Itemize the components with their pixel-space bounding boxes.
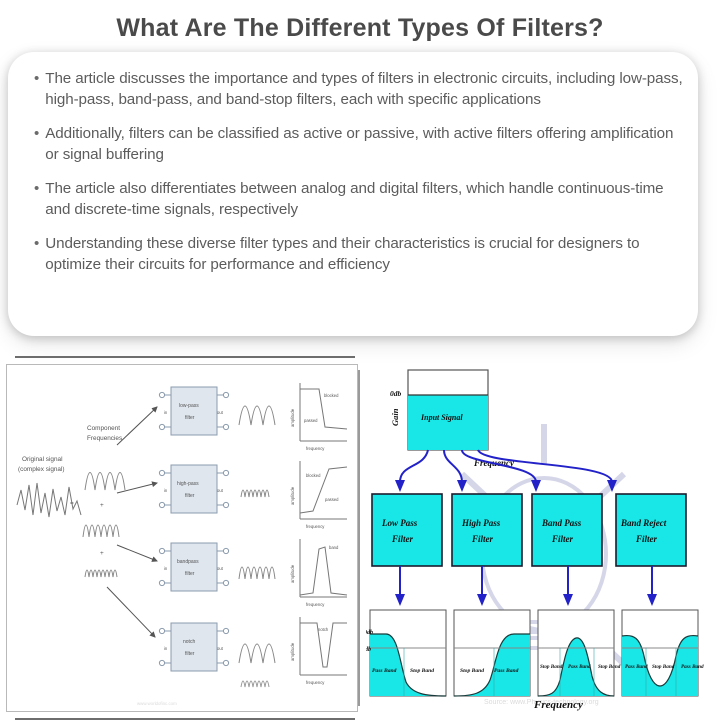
- bullet-marker-icon: •: [34, 178, 39, 199]
- band-label: Stop Band: [460, 668, 484, 674]
- db-zero-label: 0db: [390, 389, 402, 398]
- filter-box-highpass: [171, 465, 217, 513]
- graph-annotation-band: band: [329, 545, 339, 550]
- page-root: What Are The Different Types Of Filters?…: [0, 0, 720, 720]
- graph-ylabel: amplitude: [290, 486, 295, 505]
- output-waveform-notch-high: [241, 681, 269, 687]
- filter-box-label-line1: High Pass: [461, 518, 501, 528]
- filter-box-label-line1: low-pass: [179, 403, 199, 409]
- list-item: • Understanding these diverse filter typ…: [34, 233, 684, 275]
- filter-box-band-pass: Band Pass Filter: [532, 494, 602, 566]
- bullet-list: • The article discusses the importance a…: [34, 68, 684, 288]
- filter-box-bandpass: [171, 543, 217, 591]
- band-label: Stop Band: [652, 664, 675, 670]
- filter-box-lowpass: [171, 387, 217, 435]
- bullet-text: The article also differentiates between …: [45, 178, 684, 220]
- filter-box-label-line1: bandpass: [177, 559, 199, 565]
- bullet-text: Additionally, filters can be classified …: [45, 123, 684, 165]
- left-diagram-svg: Original signal (complex signal) = Compo…: [7, 365, 357, 711]
- graph-ylabel: amplitude: [290, 408, 295, 427]
- graph-annotation-passed: passed: [325, 497, 339, 502]
- filter-box-label-line1: Low Pass: [381, 518, 418, 528]
- terminal-label-out: out: [217, 646, 224, 651]
- filter-row-lowpass: low-pass filter in out amplitude frequen…: [159, 383, 347, 451]
- graph-annotation-blocked: blocked: [306, 473, 321, 478]
- response-curve-bandpass: [300, 547, 347, 595]
- connector-arrow-bandpass: [117, 545, 157, 561]
- filter-box-band-reject: Band Reject Filter: [616, 494, 686, 566]
- graph-ylabel: amplitude: [290, 564, 295, 583]
- output-waveform-bandpass: [239, 567, 275, 579]
- graph-xlabel: frequency: [306, 602, 325, 607]
- filter-box-rect: [616, 494, 686, 566]
- band-label: Pass Band: [372, 668, 397, 674]
- component-frequencies-label-line1: Component: [87, 425, 120, 432]
- graph-xlabel: frequency: [306, 680, 325, 685]
- filter-row-bandpass: bandpass filter in out amplitude frequen…: [159, 539, 347, 607]
- connector-arrow-lowpass: [117, 407, 157, 445]
- graph-annotation-notch: notch: [318, 627, 329, 632]
- response-panel-lowpass: 0db -3db Gain Pass Band Stop Band: [366, 610, 446, 696]
- filter-box-label-line2: Filter: [551, 534, 573, 544]
- terminal-label-in: in: [164, 410, 168, 415]
- input-signal-block: Input Signal 0db Gain Frequency: [390, 370, 515, 468]
- filter-box-rect: [452, 494, 522, 566]
- filter-box-high-pass: High Pass Filter: [452, 494, 522, 566]
- band-label: Pass Band: [494, 668, 519, 674]
- band-label: Stop Band: [598, 664, 621, 670]
- component-wave-mid: [83, 525, 119, 537]
- filter-box-label-line2: filter: [185, 493, 195, 499]
- filter-box-label-line2: filter: [185, 651, 195, 657]
- filter-box-label-line1: high-pass: [177, 481, 199, 487]
- list-item: • The article discusses the importance a…: [34, 68, 684, 110]
- filter-row-highpass: high-pass filter in out amplitude freque…: [159, 461, 347, 529]
- band-label: Pass Band: [568, 664, 591, 670]
- article-summary-card: • The article discusses the importance a…: [8, 52, 698, 336]
- terminal-label-out: out: [217, 566, 224, 571]
- output-waveform-lowpass: [239, 406, 275, 425]
- graph-xlabel: frequency: [306, 524, 325, 529]
- list-item: • Additionally, filters can be classifie…: [34, 123, 684, 165]
- filter-box-label-line1: Band Pass: [541, 518, 582, 528]
- connector-arrow-notch: [107, 587, 155, 637]
- input-signal-label: Input Signal: [420, 413, 463, 422]
- graph-annotation-passed: passed: [304, 418, 318, 423]
- bullet-marker-icon: •: [34, 123, 39, 144]
- bullet-text: Understanding these diverse filter types…: [45, 233, 684, 275]
- band-label: Stop Band: [410, 668, 434, 674]
- gain-axis-label: Gain: [390, 408, 400, 426]
- output-waveform-notch-low: [239, 644, 275, 663]
- filter-box-notch: [171, 623, 217, 671]
- filter-box-label-line1: Band Reject: [620, 518, 667, 528]
- band-label: Pass Band: [681, 664, 704, 670]
- right-diagram-svg: Input Signal 0db Gain Frequency Low Pass: [366, 364, 718, 712]
- plus-sign: +: [100, 502, 104, 509]
- response-panel-highpass: Stop Band Pass Band: [454, 610, 530, 696]
- filter-box-label-line2: filter: [185, 415, 195, 421]
- original-signal-label-line1: Original signal: [22, 456, 63, 463]
- left-diagram-source-note: www.worldofinc.com: [137, 701, 177, 706]
- filter-box-rect: [372, 494, 442, 566]
- filter-box-label-line2: filter: [185, 571, 195, 577]
- response-panel-bandreject: Pass Band Stop Band Pass Band: [622, 610, 704, 696]
- filter-box-label-line2: Filter: [471, 534, 493, 544]
- filter-row-notch: notch filter in out amplitude frequency …: [159, 617, 347, 687]
- terminal-label-out: out: [217, 488, 224, 493]
- band-label: Pass Band: [625, 664, 648, 670]
- frequency-axis-label: Frequency: [533, 699, 583, 711]
- component-frequencies-label-line2: Frequencies: [87, 435, 122, 442]
- bullet-text: The article discusses the importance and…: [45, 68, 684, 110]
- down-arrows: [395, 566, 657, 606]
- connector-arrow-highpass: [117, 483, 157, 493]
- graph-annotation-blocked: blocked: [324, 393, 339, 398]
- component-wave-low: [85, 473, 125, 491]
- filter-box-label-line1: notch: [183, 639, 195, 645]
- graph-xlabel: frequency: [306, 446, 325, 451]
- filter-block-diagram: Input Signal 0db Gain Frequency Low Pass: [366, 364, 718, 712]
- terminal-label-in: in: [164, 646, 168, 651]
- component-wave-high: [85, 570, 117, 577]
- band-label: Stop Band: [540, 664, 563, 670]
- filter-decomposition-diagram: Original signal (complex signal) = Compo…: [6, 364, 358, 712]
- graph-ylabel: amplitude: [290, 642, 295, 661]
- divider-top: [15, 356, 355, 358]
- output-waveform-highpass: [241, 490, 269, 497]
- response-panel-bandpass: Stop Band Pass Band Stop Band: [538, 610, 621, 696]
- bullet-marker-icon: •: [34, 68, 39, 89]
- terminal-label-in: in: [164, 566, 168, 571]
- db-minus3-label: -3db: [366, 647, 371, 653]
- filter-box-label-line2: Filter: [391, 534, 413, 544]
- terminal-label-in: in: [164, 488, 168, 493]
- fanout-arrows: [395, 450, 617, 492]
- db-zero-label: 0db: [366, 630, 373, 636]
- plus-sign: +: [100, 550, 104, 557]
- bullet-marker-icon: •: [34, 233, 39, 254]
- filter-box-low-pass: Low Pass Filter: [372, 494, 442, 566]
- terminal-label-out: out: [217, 410, 224, 415]
- original-signal-label-line2: (complex signal): [18, 466, 65, 473]
- input-signal-fill: [408, 395, 488, 450]
- filter-box-label-line2: Filter: [635, 534, 657, 544]
- page-title: What Are The Different Types Of Filters?: [0, 14, 720, 43]
- list-item: • The article also differentiates betwee…: [34, 178, 684, 220]
- filter-box-rect: [532, 494, 602, 566]
- equals-sign: =: [70, 500, 74, 507]
- panel-divider: [358, 370, 360, 706]
